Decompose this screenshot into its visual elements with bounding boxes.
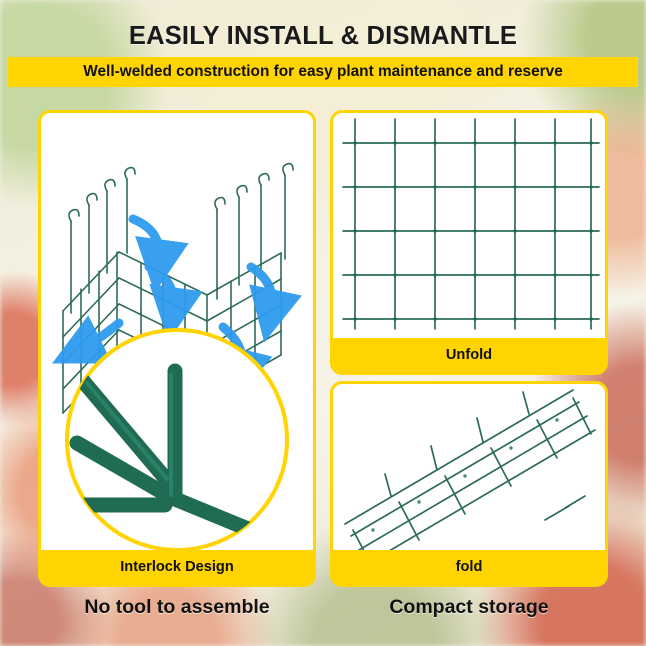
caption-unfold: Unfold xyxy=(333,338,605,372)
caption-fold: fold xyxy=(333,550,605,584)
label-compact-storage: Compact storage xyxy=(330,596,608,619)
subtitle-banner: Well-welded construction for easy plant … xyxy=(8,57,638,87)
label-no-tool: No tool to assemble xyxy=(38,596,316,619)
subtitle-text: Well-welded construction for easy plant … xyxy=(83,63,563,81)
assembly-illustration xyxy=(41,113,313,584)
panel-unfold: Unfold xyxy=(330,110,608,375)
caption-unfold-text: Unfold xyxy=(446,347,492,363)
panel-assembly: Interlock Design xyxy=(38,110,316,587)
page-title: EASILY INSTALL & DISMANTLE xyxy=(0,22,646,51)
caption-interlock: Interlock Design xyxy=(41,550,313,584)
product-infographic: EASILY INSTALL & DISMANTLE Well-welded c… xyxy=(0,0,646,646)
panel-fold: fold xyxy=(330,381,608,587)
caption-interlock-text: Interlock Design xyxy=(120,559,234,575)
caption-fold-text: fold xyxy=(456,559,483,575)
unfolded-cage-illustration xyxy=(333,113,605,372)
